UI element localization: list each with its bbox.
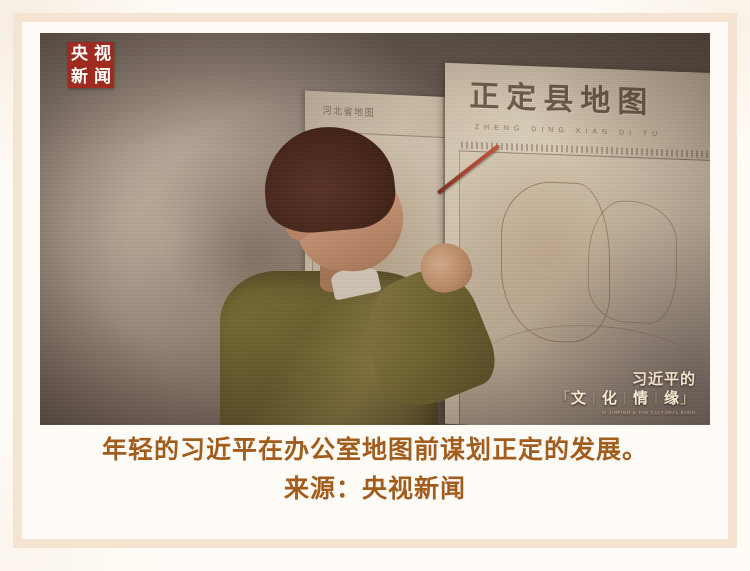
logo-char-yang: 央 — [71, 45, 88, 62]
watermark-char-wen: 文 — [571, 390, 587, 407]
logo-char-wen: 闻 — [94, 68, 111, 85]
page-root: 河北省地图 正定县地图 ZHENG DING XIAN DI TU — [0, 0, 750, 571]
caption-line-2: 来源：央视新闻 — [40, 470, 710, 510]
logo-char-xin: 新 — [71, 68, 88, 85]
watermark-title: 习近平的 — [555, 371, 696, 388]
news-photo: 河北省地图 正定县地图 ZHENG DING XIAN DI TU — [40, 33, 710, 425]
logo-char-shi: 视 — [94, 45, 111, 62]
watermark-sep-3: ｜ — [649, 392, 664, 406]
wall-map-zhengding-title: 正定县地图 — [470, 71, 655, 122]
caption-block: 年轻的习近平在办公室地图前谋划正定的发展。 来源：央视新闻 — [40, 432, 710, 510]
watermark-char-hua: 化 — [602, 390, 618, 407]
watermark-char-qing: 情 — [633, 390, 649, 407]
watermark-latin-strap: XI JINPING & THE CULTURAL BOND — [555, 410, 696, 416]
pointer-stick — [437, 145, 500, 195]
watermark-subtitle: 「文｜化｜情｜缘」 — [555, 390, 696, 407]
watermark-sep-1: ｜ — [587, 392, 602, 406]
county-outline-secondary — [588, 200, 677, 326]
watermark-char-yuan: 缘 — [664, 390, 680, 407]
subject-figure — [214, 127, 509, 425]
watermark-sep-2: ｜ — [618, 392, 633, 406]
cctv-news-logo: 央 视 新 闻 — [68, 42, 114, 88]
subject-hair — [260, 122, 398, 237]
program-watermark: 习近平的 「文｜化｜情｜缘」 XI JINPING & THE CULTURAL… — [555, 371, 696, 415]
caption-line-1: 年轻的习近平在办公室地图前谋划正定的发展。 — [40, 432, 710, 470]
watermark-bracket-open: 「 — [555, 390, 571, 407]
wall-map-hebei-title: 河北省地图 — [322, 103, 375, 120]
watermark-bracket-close: 」 — [680, 390, 696, 407]
